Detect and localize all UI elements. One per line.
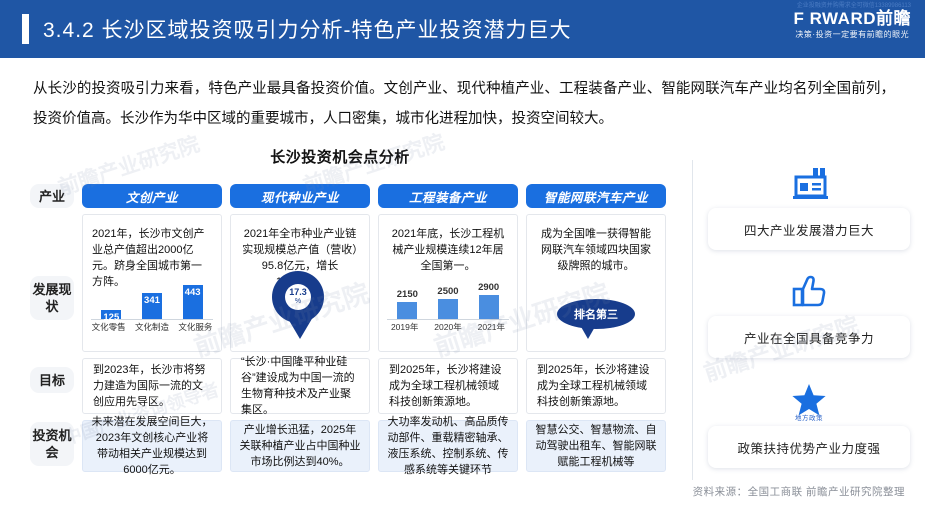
summary-item-policy[interactable]: 地方政策 政策扶持优势产业力度强 (700, 378, 918, 468)
row-label-opportunity: 投资机会 (30, 422, 74, 466)
column-head-vehicle[interactable]: 智能网联汽车产业 (526, 184, 666, 208)
cell-status-cultural: 2021年，长沙市文创产业总产值超出2000亿元。跻身全国城市第一方阵。 125… (82, 214, 222, 352)
cell-goal-equipment: 到2025年，长沙将建设成为全球工程机械领域科技创新策源地。 (378, 358, 518, 414)
summary-item-competitive[interactable]: 产业在全国具备竞争力 (700, 270, 918, 358)
rank-badge: 排名第三 (557, 299, 635, 329)
bar-value: 125 (103, 312, 119, 323)
bar-category: 2021年 (471, 321, 511, 334)
star-icon-caption: 地方政策 (700, 412, 918, 422)
panel-divider (692, 160, 693, 480)
cell-status-seed: 2021年全市种业产业链实现规模总产值（营收）95.8亿元，增长17.33%。 … (230, 214, 370, 352)
cell-opportunity-cultural: 未来潜在发展空间巨大，2023年文创核心产业将带动相关产业规模达到6000亿元。 (82, 420, 222, 472)
bar-group: 125 (93, 271, 130, 319)
summary-card-competitive[interactable]: 产业在全国具备竞争力 (708, 316, 910, 358)
row-label-goal: 目标 (30, 367, 74, 393)
bar-group: 2900 (470, 271, 507, 319)
bar-group: 341 (134, 271, 171, 319)
pin-unit: % (295, 297, 301, 307)
cell-goal-seed-text: “长沙·中国隆平种业硅谷”建设成为中国一流的生物育种技术及产业聚集区。 (231, 354, 369, 418)
bar-group: 443 (174, 271, 211, 319)
summary-card-potential[interactable]: 四大产业发展潜力巨大 (708, 208, 910, 250)
cell-goal-equipment-text: 到2025年，长沙将建设成为全球工程机械领域科技创新策源地。 (379, 362, 517, 410)
opportunity-matrix: 产业 发展现状 目标 投资机会 文创产业 2021年，长沙市文创产业总产值超出2… (30, 182, 675, 472)
cell-opportunity-seed: 产业增长迅猛，2025年关联种植产业占中国种业市场比例达到40%。 (230, 420, 370, 472)
chart-axis-line (387, 319, 509, 320)
bar-group: 2150 (389, 271, 426, 319)
bar-value: 2500 (437, 286, 458, 297)
thumbs-up-icon (700, 270, 918, 312)
page-title: 3.4.2 长沙区域投资吸引力分析-特色产业投资潜力巨大 (43, 14, 572, 44)
matrix-title: 长沙投资机会点分析 (0, 146, 680, 167)
brand-logo: F RWARD前瞻 决策·投资一定要有前瞻的眼光 (793, 10, 911, 39)
bar-value: 443 (185, 287, 201, 298)
micro-contact-text: 企业投融资并购需求全可微信13389986113 (797, 0, 911, 9)
intro-paragraph: 从长沙的投资吸引力来看，特色产业最具备投资价值。文创产业、现代种植产业、工程装备… (33, 74, 895, 134)
pin-tip (287, 317, 313, 339)
bar-category-labels: 2019年 2020年 2021年 (383, 321, 513, 334)
bar (438, 299, 458, 319)
brand-name: F RWARD前瞻 (793, 10, 911, 27)
cell-goal-seed: “长沙·中国隆平种业硅谷”建设成为中国一流的生物育种技术及产业聚集区。 (230, 358, 370, 414)
cell-opportunity-seed-text: 产业增长迅猛，2025年关联种植产业占中国种业市场比例达到40%。 (231, 418, 369, 474)
column-head-cultural[interactable]: 文创产业 (82, 184, 222, 208)
slide-root: 3.4.2 长沙区域投资吸引力分析-特色产业投资潜力巨大 企业投融资并购需求全可… (0, 0, 925, 511)
summary-item-potential[interactable]: 四大产业发展潜力巨大 (700, 162, 918, 250)
summary-panel: 四大产业发展潜力巨大 产业在全国具备竞争力 地方政策 政策扶持优势产业力度强 (700, 162, 918, 482)
bar-value: 341 (144, 295, 160, 306)
cell-status-equipment: 2021年底，长沙工程机械产业规模连续12年居全国第一。 2150 2500 2… (378, 214, 518, 352)
pin-circle: 17.3 % (272, 271, 324, 323)
column-head-equipment[interactable]: 工程装备产业 (378, 184, 518, 208)
cell-goal-cultural-text: 到2023年，长沙市将努力建造为国际一流的文创应用先导区。 (83, 362, 221, 410)
pin-value: 17.3 (289, 287, 307, 297)
row-label-status: 发展现状 (30, 276, 74, 320)
cell-status-vehicle-text: 成为全国唯一获得智能网联汽车领域四块国家级牌照的城市。 (527, 215, 665, 274)
bar-group: 2500 (430, 271, 467, 319)
summary-card-policy[interactable]: 政策扶持优势产业力度强 (708, 426, 910, 468)
cell-goal-vehicle-text: 到2025年，长沙将建设成为全球工程机械领域科技创新策源地。 (527, 362, 665, 410)
bar-category: 2019年 (385, 321, 425, 334)
cell-goal-vehicle: 到2025年，长沙将建设成为全球工程机械领域科技创新策源地。 (526, 358, 666, 414)
header-accent-bar (22, 14, 29, 44)
bar-value: 2150 (397, 289, 418, 300)
cell-status-vehicle: 成为全国唯一获得智能网联汽车领域四块国家级牌照的城市。 排名第三 (526, 214, 666, 352)
cell-opportunity-vehicle-text: 智慧公交、智慧物流、自动驾驶出租车、智能网联赋能工程机械等 (527, 418, 665, 474)
cell-goal-cultural: 到2023年，长沙市将努力建造为国际一流的文创应用先导区。 (82, 358, 222, 414)
bar (397, 302, 417, 319)
bar-value: 2900 (478, 282, 499, 293)
bar-chart-equipment: 2150 2500 2900 2019年 2020年 (379, 271, 517, 335)
column-head-seed[interactable]: 现代种业产业 (230, 184, 370, 208)
bar-category: 文化制造 (132, 321, 172, 334)
slide-header: 3.4.2 长沙区域投资吸引力分析-特色产业投资潜力巨大 企业投融资并购需求全可… (0, 0, 925, 58)
row-label-industry: 产业 (30, 184, 74, 208)
bar (479, 295, 499, 319)
factory-icon (700, 162, 918, 204)
cell-opportunity-vehicle: 智慧公交、智慧物流、自动驾驶出租车、智能网联赋能工程机械等 (526, 420, 666, 472)
brand-tagline: 决策·投资一定要有前瞻的眼光 (793, 31, 911, 39)
cell-opportunity-equipment-text: 大功率发动机、高品质传动部件、重载精密轴承、液压系统、控制系统、传感系统等关键环… (379, 410, 517, 482)
pin-value-wrap: 17.3 % (285, 284, 311, 310)
location-pin-icon: 17.3 % (272, 271, 328, 337)
source-note: 资料来源：全国工商联 前瞻产业研究院整理 (693, 484, 905, 499)
bar-category: 2020年 (428, 321, 468, 334)
cell-opportunity-cultural-text: 未来潜在发展空间巨大，2023年文创核心产业将带动相关产业规模达到6000亿元。 (83, 410, 221, 482)
bar-chart-cultural: 125 341 443 文化零售 文化制造 文化服 (83, 271, 221, 335)
cell-status-equipment-text: 2021年底，长沙工程机械产业规模连续12年居全国第一。 (379, 215, 517, 274)
bar-category: 文化服务 (175, 321, 215, 334)
cell-opportunity-equipment: 大功率发动机、高品质传动部件、重载精密轴承、液压系统、控制系统、传感系统等关键环… (378, 420, 518, 472)
